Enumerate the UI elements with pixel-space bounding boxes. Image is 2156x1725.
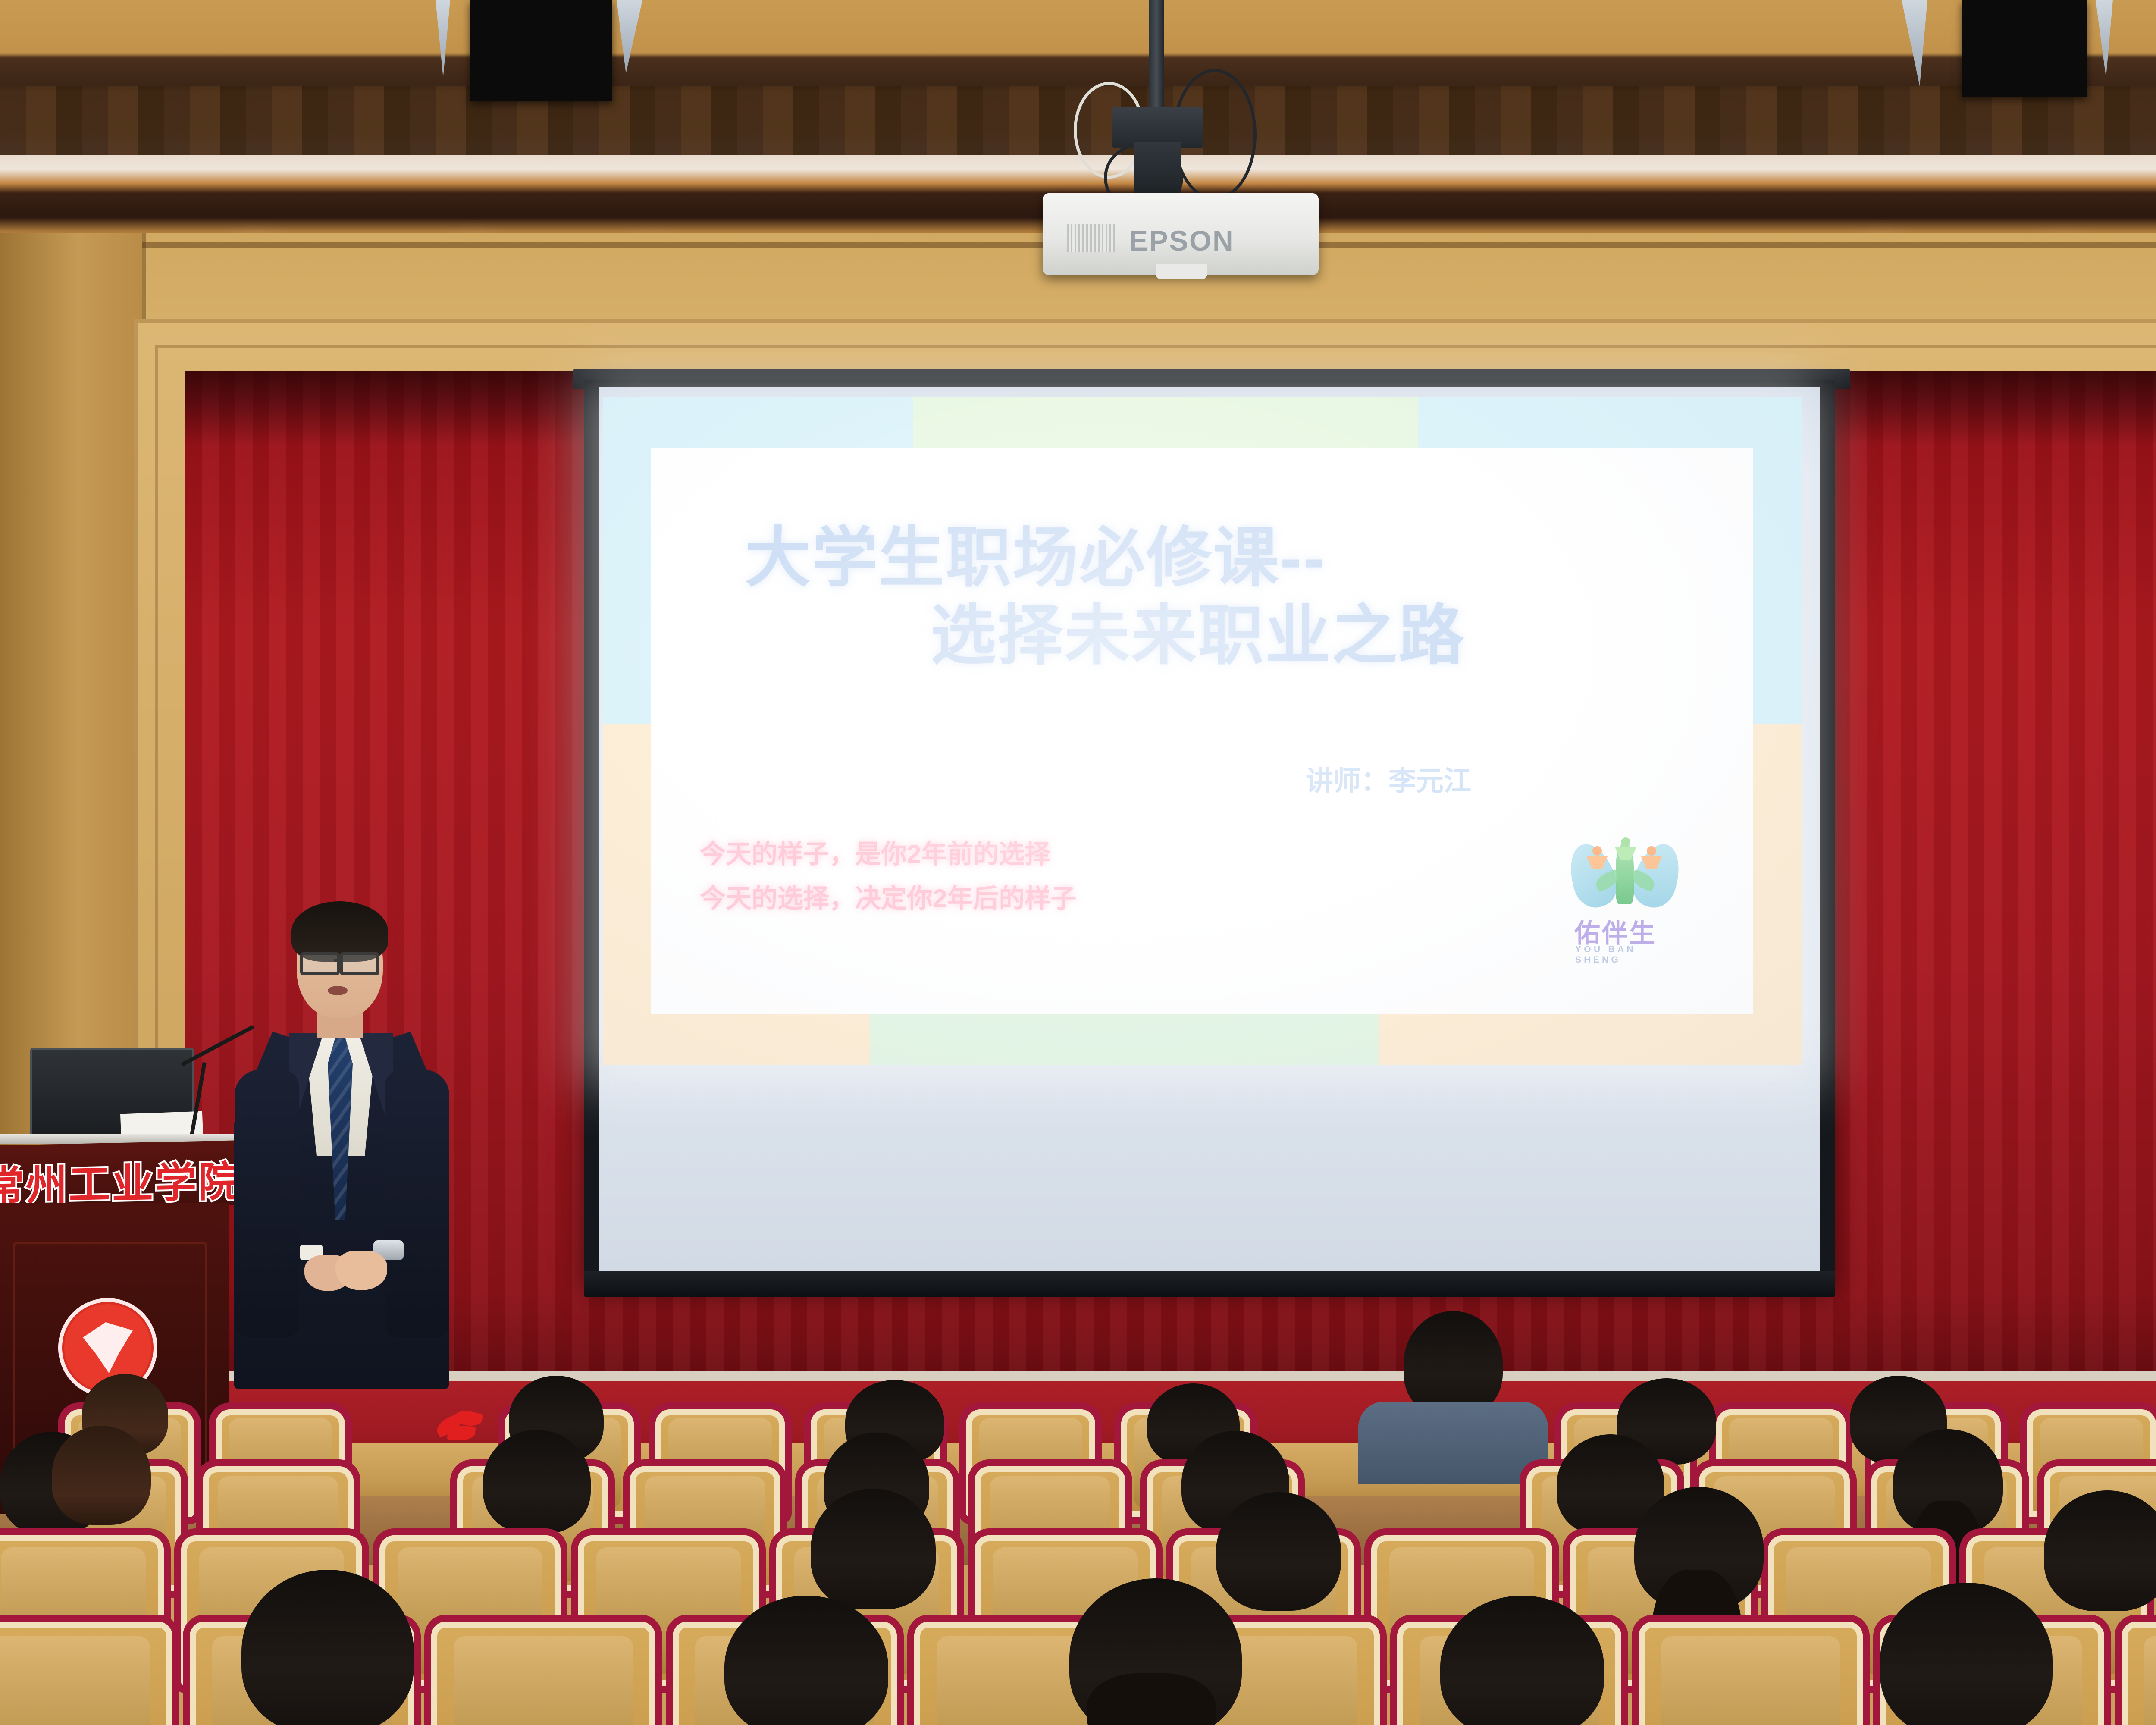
audience-head [811,1489,936,1609]
slide-band-top-right-cyan [1418,397,1802,448]
slide-band-left-cyan [603,397,651,724]
logo-hands-sprout-icon [1571,837,1679,908]
speaker-arm-left [235,1069,299,1337]
audience-ponytail [1087,1673,1216,1725]
slide-band-bottom-right-peach [1379,1014,1802,1065]
audience-head-foreground [241,1570,414,1725]
logo-figure-icon [1640,846,1663,869]
audience-head [1216,1492,1341,1611]
audience-head [1404,1311,1503,1417]
auditorium-seat[interactable] [2122,1621,2156,1725]
audience-head [483,1430,591,1534]
slide-lecturer-line: 讲师：李元江 [1306,759,1471,799]
slide-red-line-2: 今天的选择，决定你2年后的样子 [700,878,1076,915]
auditorium-seat[interactable] [0,1621,172,1725]
poinsettia-plant [436,1408,487,1447]
slide-band-top-mid-green [913,397,1418,448]
eyeglasses-icon [300,952,340,975]
slide-band-bottom-mid-green [870,1014,1379,1065]
auditorium-seat[interactable] [1639,1621,1863,1725]
slide-sponsor-logo: 佑伴生 YOU BAN SHENG [1571,837,1683,966]
slide-band-right-cyan [1753,397,1802,724]
eyeglasses-icon [340,952,379,975]
speaker-arm-right [385,1069,449,1337]
speaker-presenter [224,897,457,1449]
projector-mount-arm [1134,142,1181,198]
eyeglasses-bridge-icon [334,959,342,962]
projector-mount-pipe [1149,0,1164,112]
projector-screen-weight-bar [584,1271,1835,1297]
slide-title-line-2: 选择未来职业之路 [931,582,1465,677]
auditorium-seat[interactable] [431,1621,655,1725]
logo-pinyin-name: YOU BAN SHENG [1575,944,1683,965]
presentation-slide: 大学生职场必修课-- 选择未来职业之路 讲师：李元江 今天的样子，是你2年前的选… [603,397,1802,1065]
ceiling-speaker-left [470,0,612,101]
slide-band-bottom-left-peach [603,1014,870,1065]
projector-vent-grille [1067,224,1115,252]
audience-head [52,1426,151,1525]
projector-lens-housing [1156,264,1207,279]
auditorium-photo: EPSON 大学生职场必修课-- 选择未来职业之路 讲师：李元江 今天的样子，是… [0,0,2156,1725]
logo-figure-icon [1586,846,1609,869]
slide-red-line-1: 今天的样子，是你2年前的选择 [700,833,1050,871]
ceiling-speaker-right [1962,0,2087,97]
speaker-hand-right [335,1251,387,1290]
audience-shoulders [1358,1402,1548,1483]
speaker-mouth [328,986,348,995]
projector-brand-label: EPSON [1129,224,1234,257]
logo-figure-icon [1614,837,1637,861]
